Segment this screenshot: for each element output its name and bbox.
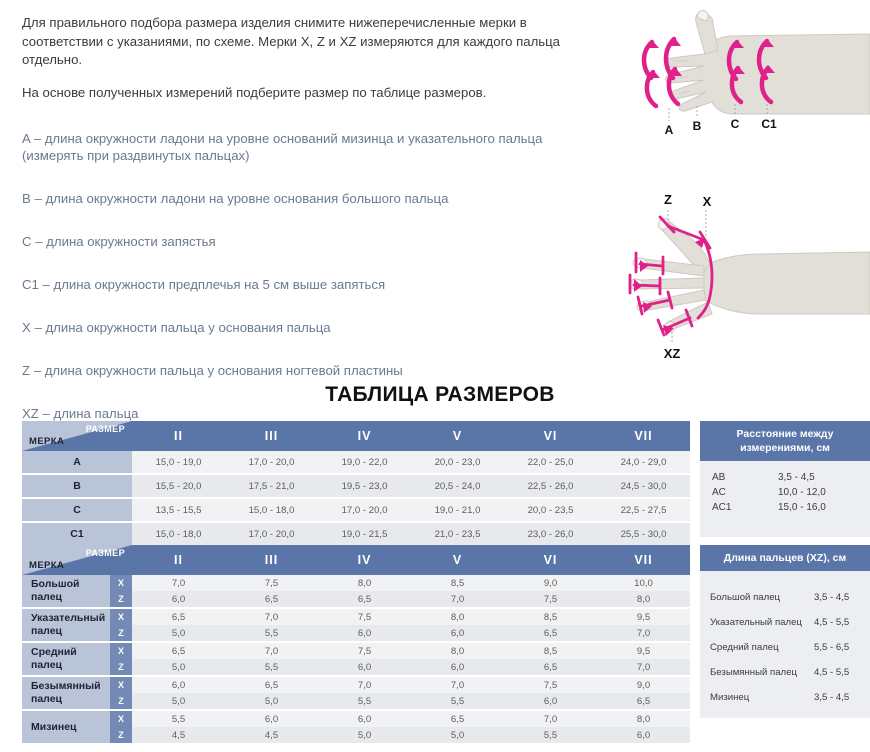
table2-col-v: V — [411, 545, 504, 575]
table2-size-label: РАЗМЕР — [86, 548, 125, 558]
table1-cell: 19,0 - 21,0 — [411, 498, 504, 522]
table1-cell: 15,0 - 18,0 — [225, 498, 318, 522]
side2-value: 3,5 - 4,5 — [814, 585, 870, 610]
side1-key: AB — [700, 470, 778, 485]
table1-header-row: РАЗМЕР МЕРКА II III IV V VI VII — [22, 421, 690, 451]
table2-cell: 4,5 — [225, 727, 318, 744]
table2-cell: 7,0 — [318, 676, 411, 693]
table1-size-label: РАЗМЕР — [86, 424, 125, 434]
table2-cell: 9,5 — [597, 608, 690, 625]
side2-value: 5,5 - 6,5 — [814, 635, 870, 660]
table1-col-ii: II — [132, 421, 225, 451]
table1-cell: 19,0 - 21,5 — [318, 522, 411, 546]
table-row: Z 5,0 5,5 6,0 6,0 6,5 7,0 — [22, 625, 690, 642]
table1-cell: 17,5 - 21,0 — [225, 474, 318, 498]
table2-z-label: Z — [110, 727, 132, 744]
table1-col-v: V — [411, 421, 504, 451]
table2-cell: 7,0 — [597, 625, 690, 642]
table2-x-label: X — [110, 676, 132, 693]
table1-cell: 20,0 - 23,0 — [411, 451, 504, 474]
table1-cell: 23,0 - 26,0 — [504, 522, 597, 546]
size-table-fingers: РАЗМЕР МЕРКА II III IV V VI VII Большой … — [22, 545, 690, 745]
table2-cell: 6,0 — [225, 710, 318, 727]
table-row: Средний палец X 6,5 7,0 7,5 8,0 8,5 9,5 — [22, 642, 690, 659]
table2-cell: 8,0 — [411, 608, 504, 625]
table1-cell: 20,0 - 23,5 — [504, 498, 597, 522]
table2-z-label: Z — [110, 591, 132, 608]
side1-key: AC1 — [700, 500, 778, 515]
diagram-label-c1: C1 — [761, 117, 777, 131]
table1-cell: 19,5 - 23,0 — [318, 474, 411, 498]
table1-cell: 13,5 - 15,5 — [132, 498, 225, 522]
table2-cell: 5,0 — [132, 693, 225, 710]
table-row: Z 6,0 6,5 6,5 7,0 7,5 8,0 — [22, 591, 690, 608]
table-row: Z 5,0 5,5 6,0 6,0 6,5 7,0 — [22, 659, 690, 676]
side2-value: 4,5 - 5,5 — [814, 660, 870, 685]
table1-cell: 15,0 - 18,0 — [132, 522, 225, 546]
definition-c1: C1 – длина окружности предплечья на 5 см… — [22, 276, 607, 293]
table2-cell: 8,0 — [597, 591, 690, 608]
table-row: Безымянный палец X 6,0 6,5 7,0 7,0 7,5 9… — [22, 676, 690, 693]
side2-value: 3,5 - 4,5 — [814, 685, 870, 710]
table2-finger-name: Средний палец — [22, 642, 110, 676]
list-item: Указательный палец 4,5 - 5,5 — [700, 610, 870, 635]
table2-x-label: X — [110, 608, 132, 625]
list-item: Безымянный палец 4,5 - 5,5 — [700, 660, 870, 685]
definition-xz: XZ – длина пальца — [22, 405, 607, 422]
table2-finger-name: Большой палец — [22, 575, 110, 608]
table1-row-label-c1: C1 — [22, 522, 132, 546]
table1-cell: 17,0 - 20,0 — [318, 498, 411, 522]
table2-cell: 6,0 — [132, 676, 225, 693]
side1-value: 10,0 - 12,0 — [778, 485, 870, 500]
table-row: Большой палец X 7,0 7,5 8,0 8,5 9,0 10,0 — [22, 575, 690, 591]
table2-cell: 6,5 — [318, 591, 411, 608]
intro-paragraph-1: Для правильного подбора размера изделия … — [22, 14, 607, 70]
table2-cell: 6,5 — [225, 676, 318, 693]
diagram-label-x: X — [703, 194, 712, 209]
table1-cell: 17,0 - 20,0 — [225, 522, 318, 546]
table1-cell: 17,0 - 20,0 — [225, 451, 318, 474]
table1-measure-label: МЕРКА — [29, 436, 64, 447]
table2-x-label: X — [110, 710, 132, 727]
side1-value: 15,0 - 16,0 — [778, 500, 870, 515]
table-row: C1 15,0 - 18,0 17,0 - 20,0 19,0 - 21,5 2… — [22, 522, 690, 546]
definition-c: C – длина окружности запястья — [22, 233, 607, 250]
table-row: C 13,5 - 15,5 15,0 - 18,0 17,0 - 20,0 19… — [22, 498, 690, 522]
hand-silhouette-palm — [629, 216, 870, 334]
diagram-label-xz: XZ — [664, 346, 681, 361]
table2-col-iv: IV — [318, 545, 411, 575]
side1-key: AC — [700, 485, 778, 500]
table-row: Z 5,0 5,0 5,5 5,5 6,0 6,5 — [22, 693, 690, 710]
side1-value: 3,5 - 4,5 — [778, 470, 870, 485]
table2-cell: 6,5 — [504, 659, 597, 676]
table2-cell: 7,5 — [504, 676, 597, 693]
table2-cell: 6,0 — [504, 693, 597, 710]
table2-header-row: РАЗМЕР МЕРКА II III IV V VI VII — [22, 545, 690, 575]
table2-cell: 6,5 — [504, 625, 597, 642]
table2-cell: 9,0 — [504, 575, 597, 591]
table2-cell: 8,5 — [504, 608, 597, 625]
table2-cell: 6,5 — [225, 591, 318, 608]
table1-row-label-c: C — [22, 498, 132, 522]
table2-col-iii: III — [225, 545, 318, 575]
side2-key: Средний палец — [700, 635, 814, 660]
table1-cell: 24,5 - 30,0 — [597, 474, 690, 498]
side1-body: AB 3,5 - 4,5 AC 10,0 - 12,0 AC1 15,0 - 1… — [700, 461, 870, 515]
table2-cell: 6,5 — [411, 710, 504, 727]
side2-key: Безымянный палец — [700, 660, 814, 685]
hand-diagram-x-z-xz: Z X XZ — [600, 180, 870, 375]
table2-cell: 8,5 — [411, 575, 504, 591]
table2-cell: 10,0 — [597, 575, 690, 591]
distance-between-measurements-panel: Расстояние между измерениями, см AB 3,5 … — [700, 421, 870, 537]
table2-cell: 5,0 — [132, 659, 225, 676]
size-table-title: ТАБЛИЦА РАЗМЕРОВ — [290, 383, 590, 407]
diagram-label-z: Z — [664, 192, 672, 207]
list-item: AB 3,5 - 4,5 — [700, 470, 870, 485]
table2-cell: 5,0 — [132, 625, 225, 642]
table1-cell: 22,5 - 26,0 — [504, 474, 597, 498]
table2-cell: 5,5 — [225, 659, 318, 676]
list-item: AC1 15,0 - 16,0 — [700, 500, 870, 515]
table1-cell: 24,0 - 29,0 — [597, 451, 690, 474]
table2-col-vi: VI — [504, 545, 597, 575]
table1-cell: 15,5 - 20,0 — [132, 474, 225, 498]
list-item: Мизинец 3,5 - 4,5 — [700, 685, 870, 710]
table2-col-vii: VII — [597, 545, 690, 575]
diagram-label-a: A — [665, 123, 674, 137]
side1-header: Расстояние между измерениями, см — [700, 421, 870, 461]
table2-cell: 8,0 — [597, 710, 690, 727]
table2-cell: 5,5 — [411, 693, 504, 710]
table1-cell: 21,0 - 23,5 — [411, 522, 504, 546]
diagram-label-c: C — [731, 117, 740, 131]
intro-text-block: Для правильного подбора размера изделия … — [22, 14, 607, 116]
table2-cell: 6,5 — [132, 608, 225, 625]
table2-cell: 5,0 — [225, 693, 318, 710]
table2-cell: 7,0 — [411, 676, 504, 693]
size-guide-page: Для правильного подбора размера изделия … — [0, 0, 870, 752]
table2-cell: 7,5 — [318, 608, 411, 625]
table2-cell: 7,0 — [132, 575, 225, 591]
table1-cell: 22,5 - 27,5 — [597, 498, 690, 522]
size-table-palm: РАЗМЕР МЕРКА II III IV V VI VII A 15,0 -… — [22, 421, 690, 547]
list-item: Средний палец 5,5 - 6,5 — [700, 635, 870, 660]
definition-z: Z – длина окружности пальца у основания … — [22, 362, 607, 379]
table2-cell: 5,5 — [132, 710, 225, 727]
table2-cell: 6,0 — [318, 625, 411, 642]
table2-x-label: X — [110, 642, 132, 659]
table2-cell: 8,0 — [411, 642, 504, 659]
table2-finger-name: Безымянный палец — [22, 676, 110, 710]
table2-cell: 7,0 — [225, 608, 318, 625]
table2-cell: 7,0 — [504, 710, 597, 727]
table2-finger-name: Указательный палец — [22, 608, 110, 642]
table1-cell: 22,0 - 25,0 — [504, 451, 597, 474]
table2-cell: 6,0 — [318, 659, 411, 676]
side2-key: Указательный палец — [700, 610, 814, 635]
table1-col-iii: III — [225, 421, 318, 451]
table2-corner-cell: РАЗМЕР МЕРКА — [22, 545, 132, 575]
table1-row-label-a: A — [22, 451, 132, 474]
table2-x-label: X — [110, 575, 132, 591]
table2-cell: 6,0 — [411, 625, 504, 642]
table1-cell: 19,0 - 22,0 — [318, 451, 411, 474]
list-item: Большой палец 3,5 - 4,5 — [700, 585, 870, 610]
table2-cell: 6,0 — [411, 659, 504, 676]
table-row: Z 4,5 4,5 5,0 5,0 5,5 6,0 — [22, 727, 690, 744]
table1-cell: 20,5 - 24,0 — [411, 474, 504, 498]
table2-cell: 5,0 — [318, 727, 411, 744]
table2-col-ii: II — [132, 545, 225, 575]
table2-cell: 7,5 — [318, 642, 411, 659]
table2-cell: 5,5 — [225, 625, 318, 642]
table2-cell: 7,5 — [225, 575, 318, 591]
table2-z-label: Z — [110, 693, 132, 710]
table2-cell: 8,0 — [318, 575, 411, 591]
table2-cell: 5,5 — [504, 727, 597, 744]
diagram-label-b: B — [693, 119, 702, 133]
table2-cell: 7,0 — [411, 591, 504, 608]
side2-key: Мизинец — [700, 685, 814, 710]
side2-header: Длина пальцев (XZ), см — [700, 545, 870, 571]
table1-col-vii: VII — [597, 421, 690, 451]
side2-body: Большой палец 3,5 - 4,5 Указательный пал… — [700, 571, 870, 710]
hand-diagram-abc-c1: A B C C1 — [612, 6, 870, 156]
table2-cell: 6,0 — [597, 727, 690, 744]
table2-cell: 5,0 — [411, 727, 504, 744]
table2-cell: 4,5 — [132, 727, 225, 744]
side2-value: 4,5 - 5,5 — [814, 610, 870, 635]
definition-x: X – длина окружности пальца у основания … — [22, 319, 607, 336]
table2-cell: 8,5 — [504, 642, 597, 659]
definition-b: B – длина окружности ладони на уровне ос… — [22, 190, 607, 207]
finger-length-panel: Длина пальцев (XZ), см Большой палец 3,5… — [700, 545, 870, 718]
table2-measure-label: МЕРКА — [29, 560, 64, 571]
table1-cell: 25,5 - 30,0 — [597, 522, 690, 546]
table2-cell: 7,0 — [597, 659, 690, 676]
table2-finger-name: Мизинец — [22, 710, 110, 744]
table-row: A 15,0 - 19,0 17,0 - 20,0 19,0 - 22,0 20… — [22, 451, 690, 474]
table2-cell: 5,5 — [318, 693, 411, 710]
definition-a: A – длина окружности ладони на уровне ос… — [22, 130, 607, 164]
table2-cell: 6,5 — [132, 642, 225, 659]
table2-z-label: Z — [110, 659, 132, 676]
intro-paragraph-2: На основе полученных измерений подберите… — [22, 84, 607, 103]
table-row: Указательный палец X 6,5 7,0 7,5 8,0 8,5… — [22, 608, 690, 625]
table1-col-iv: IV — [318, 421, 411, 451]
table1-corner-cell: РАЗМЕР МЕРКА — [22, 421, 132, 451]
table2-cell: 6,5 — [597, 693, 690, 710]
table1-row-label-b: B — [22, 474, 132, 498]
table2-z-label: Z — [110, 625, 132, 642]
table2-cell: 9,5 — [597, 642, 690, 659]
table2-cell: 7,0 — [225, 642, 318, 659]
table2-cell: 6,0 — [318, 710, 411, 727]
table-row: B 15,5 - 20,0 17,5 - 21,0 19,5 - 23,0 20… — [22, 474, 690, 498]
table2-cell: 6,0 — [132, 591, 225, 608]
side2-key: Большой палец — [700, 585, 814, 610]
list-item: AC 10,0 - 12,0 — [700, 485, 870, 500]
table-row: Мизинец X 5,5 6,0 6,0 6,5 7,0 8,0 — [22, 710, 690, 727]
table1-cell: 15,0 - 19,0 — [132, 451, 225, 474]
table2-cell: 9,0 — [597, 676, 690, 693]
table1-col-vi: VI — [504, 421, 597, 451]
table2-cell: 7,5 — [504, 591, 597, 608]
